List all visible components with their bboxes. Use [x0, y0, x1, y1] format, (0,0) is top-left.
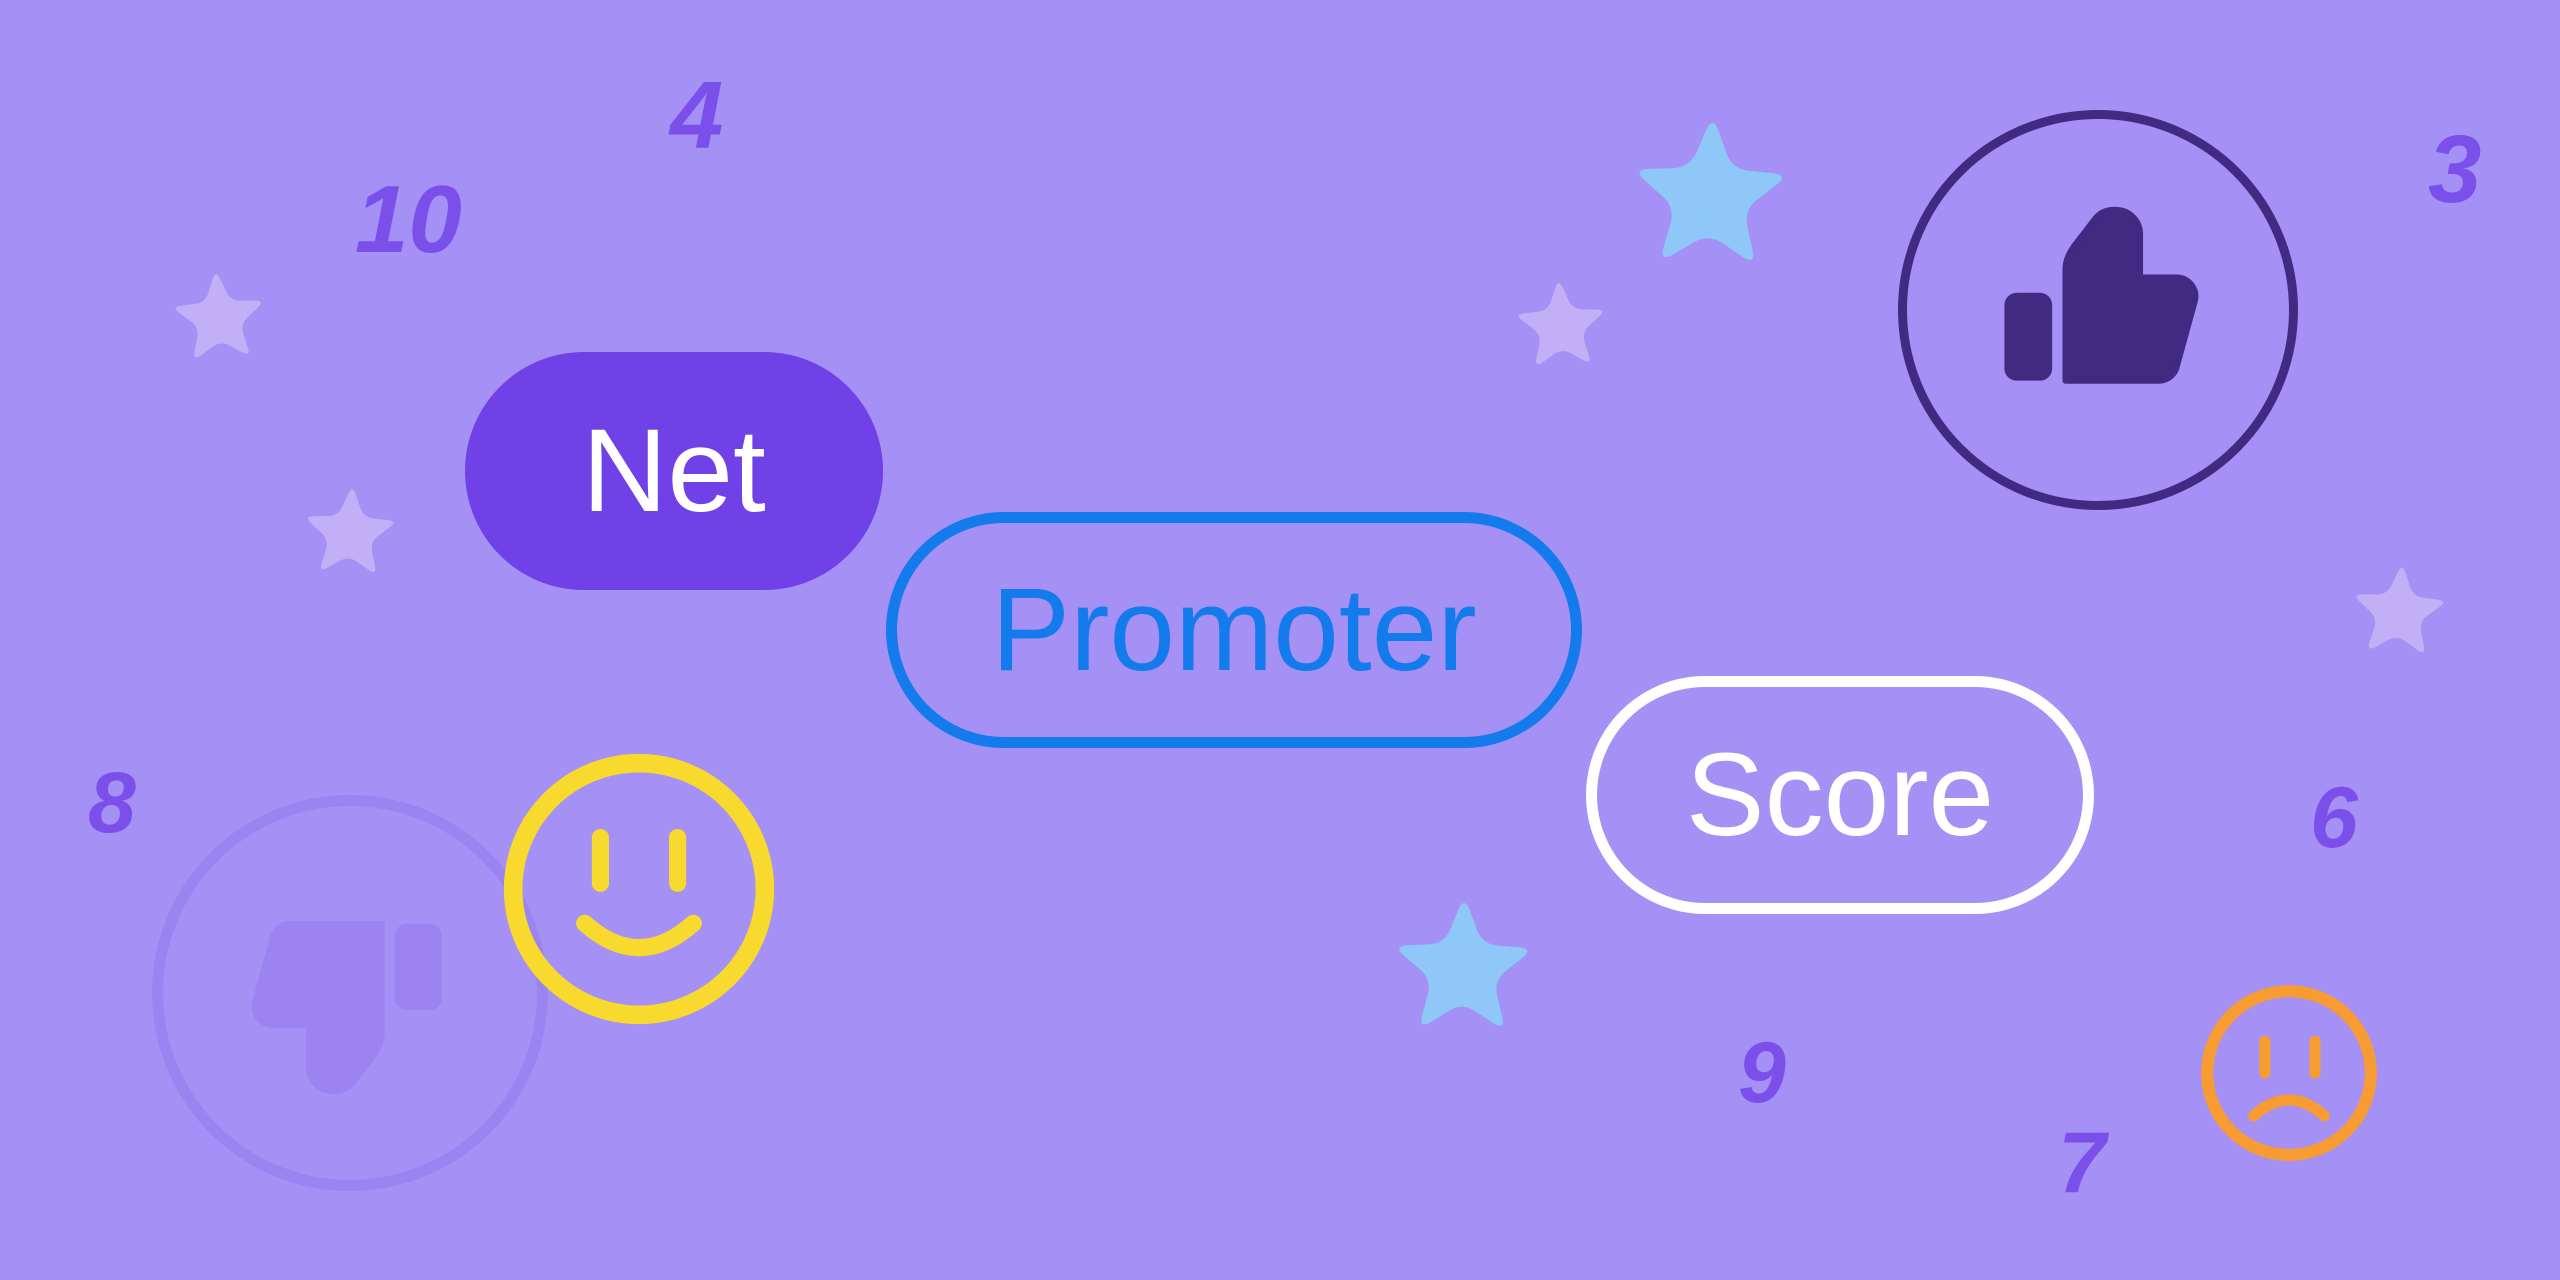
- score-number: 8: [88, 760, 136, 846]
- score-number: 6: [2310, 775, 2358, 861]
- pill-promoter-label: Promoter: [991, 571, 1476, 689]
- pill-score[interactable]: Score: [1586, 676, 2094, 914]
- star-icon: [2340, 552, 2457, 669]
- pill-net[interactable]: Net: [465, 352, 883, 590]
- thumbs-down-icon: [163, 806, 537, 1180]
- smiley-sad-icon: [2196, 980, 2382, 1166]
- score-number: 3: [2428, 122, 2481, 218]
- star-icon: [1381, 885, 1546, 1050]
- star-icon: [293, 475, 407, 589]
- star-icon: [161, 259, 276, 374]
- score-number: 10: [355, 172, 462, 268]
- score-number: 9: [1738, 1030, 1786, 1116]
- nps-hero-canvas: 4 10 3 8 6 9 7: [0, 0, 2560, 1280]
- star-icon: [1617, 101, 1803, 287]
- pill-net-label: Net: [582, 412, 766, 530]
- pill-score-label: Score: [1686, 736, 1994, 854]
- thumbs-down-badge: [152, 795, 548, 1191]
- star-icon: [1505, 269, 1616, 380]
- score-number: 7: [2058, 1120, 2106, 1206]
- score-number: 4: [670, 68, 723, 164]
- smiley-happy-icon: [496, 746, 782, 1032]
- pill-promoter[interactable]: Promoter: [886, 512, 1582, 748]
- thumbs-up-badge: [1898, 110, 2298, 510]
- thumbs-up-icon: [1907, 119, 2289, 501]
